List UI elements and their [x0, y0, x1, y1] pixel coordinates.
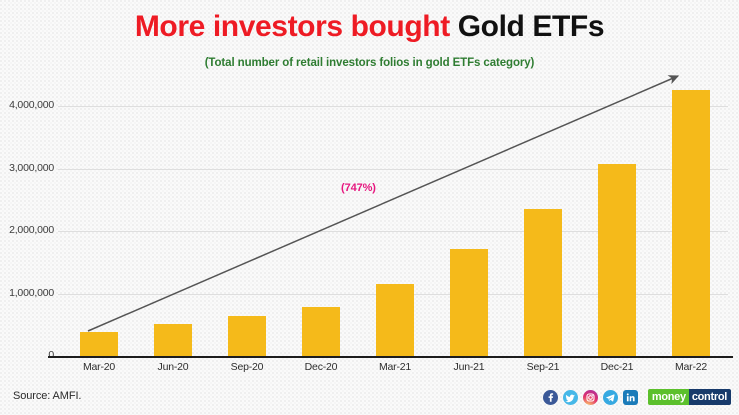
- y-axis-tick-label: 0: [6, 349, 54, 361]
- gridline: [58, 106, 728, 107]
- moneycontrol-logo-money: money: [648, 389, 689, 405]
- infographic-page: More investors bought Gold ETFs (Total n…: [0, 0, 739, 415]
- x-axis-line: [48, 356, 733, 358]
- footer-branding: money control: [543, 389, 731, 405]
- y-axis-tick-label: 2,000,000: [6, 224, 54, 236]
- bar-jun-20: [154, 324, 192, 356]
- facebook-icon[interactable]: [543, 390, 558, 405]
- x-axis-tick-label: Mar-20: [62, 361, 136, 373]
- growth-percentage-label: (747%): [341, 182, 376, 194]
- bar-mar-21: [376, 284, 414, 357]
- moneycontrol-logo-control: control: [689, 389, 731, 405]
- x-axis-tick-label: Jun-21: [432, 361, 506, 373]
- x-axis-tick-label: Jun-20: [136, 361, 210, 373]
- bar-chart: 01,000,0002,000,0003,000,0004,000,000 Ma…: [0, 0, 739, 415]
- y-axis-tick-label: 3,000,000: [6, 162, 54, 174]
- social-links: [543, 390, 638, 405]
- x-axis-tick-label: Sep-21: [506, 361, 580, 373]
- bar-sep-20: [228, 316, 266, 356]
- bar-mar-22: [672, 90, 710, 356]
- x-axis-tick-label: Mar-21: [358, 361, 432, 373]
- x-axis-tick-label: Sep-20: [210, 361, 284, 373]
- source-note: Source: AMFI.: [13, 390, 81, 402]
- telegram-icon[interactable]: [603, 390, 618, 405]
- bar-dec-21: [598, 164, 636, 356]
- x-axis-tick-label: Dec-21: [580, 361, 654, 373]
- bar-jun-21: [450, 249, 488, 356]
- bar-dec-20: [302, 307, 340, 356]
- x-axis-tick-label: Dec-20: [284, 361, 358, 373]
- y-axis-tick-label: 4,000,000: [6, 99, 54, 111]
- linkedin-icon[interactable]: [623, 390, 638, 405]
- x-axis-tick-label: Mar-22: [654, 361, 728, 373]
- bar-mar-20: [80, 332, 118, 356]
- instagram-icon[interactable]: [583, 390, 598, 405]
- y-axis-tick-label: 1,000,000: [6, 287, 54, 299]
- moneycontrol-logo[interactable]: money control: [648, 389, 731, 405]
- bar-sep-21: [524, 209, 562, 356]
- twitter-icon[interactable]: [563, 390, 578, 405]
